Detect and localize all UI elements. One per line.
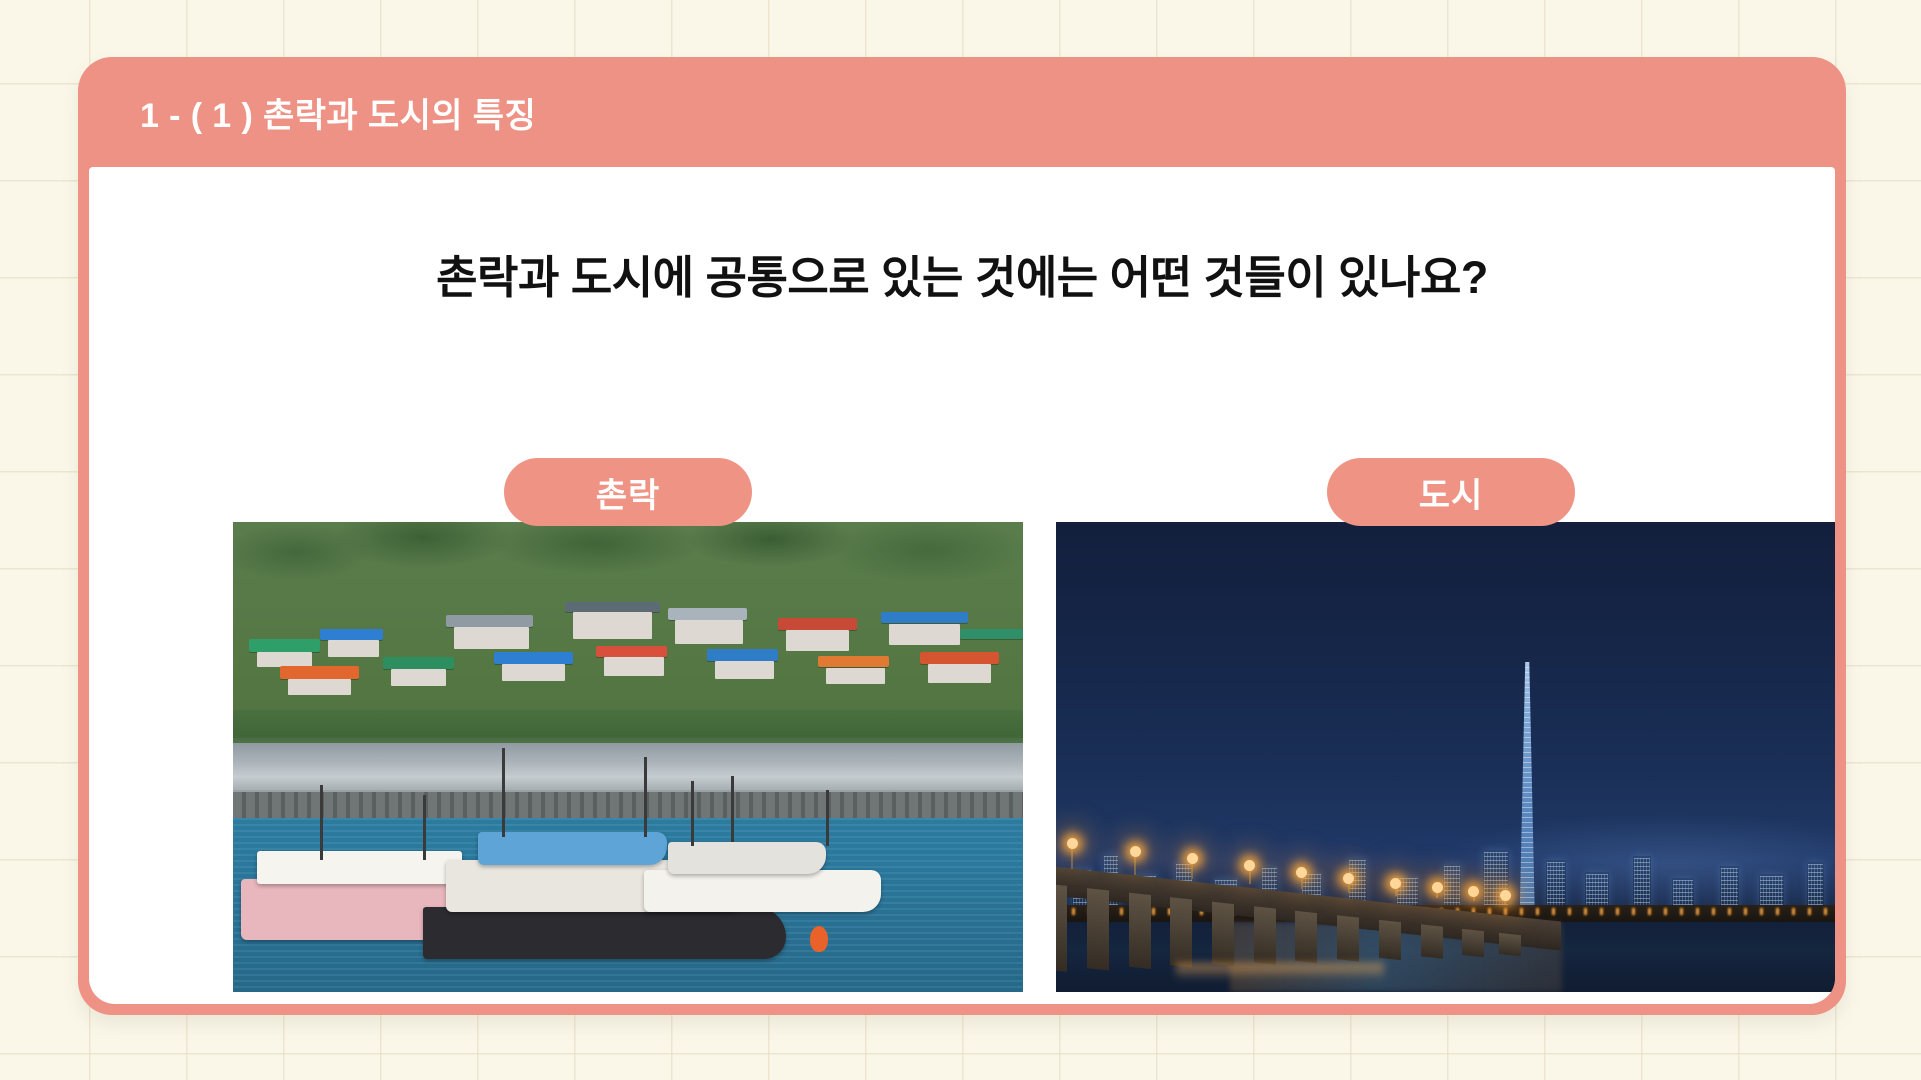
village-houses	[233, 564, 1023, 733]
bridge-light-reflection	[1176, 963, 1385, 980]
question-text: 촌락과 도시에 공통으로 있는 것에는 어떤 것들이 있나요?	[89, 241, 1835, 306]
label-pill-city: 도시	[1327, 458, 1575, 526]
orange-buoy	[810, 926, 828, 952]
slide-card: 1 - ( 1 ) 촌락과 도시의 특징 촌락과 도시에 공통으로 있는 것에는…	[78, 57, 1846, 1015]
page-title: 1 - ( 1 ) 촌락과 도시의 특징	[140, 88, 536, 137]
column-village: 촌락	[233, 522, 1023, 992]
village-waterfront-buildings	[233, 743, 1023, 795]
photo-village	[233, 522, 1023, 992]
photo-city	[1056, 522, 1835, 992]
card-header: 1 - ( 1 ) 촌락과 도시의 특징	[78, 57, 1846, 167]
river-bridge	[1056, 856, 1562, 978]
card-body: 촌락과 도시에 공통으로 있는 것에는 어떤 것들이 있나요? 촌락	[89, 167, 1835, 1004]
label-pill-village: 촌락	[504, 458, 752, 526]
column-city: 도시	[1056, 522, 1835, 992]
village-quay-wall	[233, 790, 1023, 818]
